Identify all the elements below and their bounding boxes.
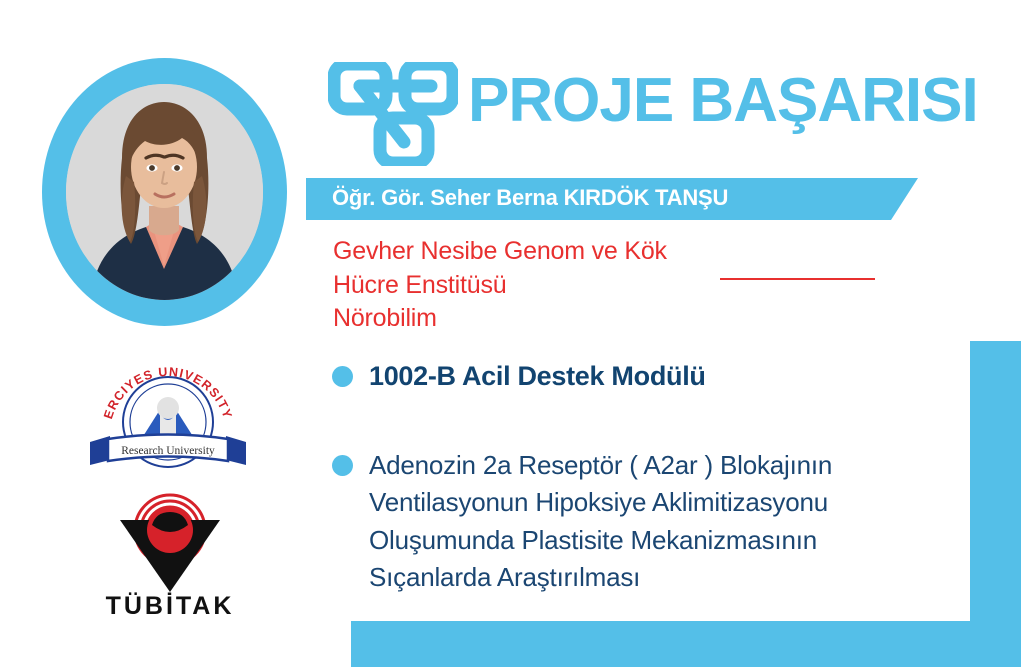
page-title: PROJE BAŞARISI (468, 70, 978, 132)
avatar-photo (66, 84, 263, 300)
poster-canvas: PROJE BAŞARISI Öğr. Gör. Seher Berna KIR… (0, 0, 1021, 667)
decorative-frame-vertical (970, 341, 1021, 621)
person-name: Öğr. Gör. Seher Berna KIRDÖK TANŞU (332, 185, 728, 211)
program-label: 1002-B Acil Destek Modülü (369, 361, 706, 392)
portrait-illustration (66, 84, 263, 300)
network-share-icon-svg (328, 62, 458, 166)
bullet-dot-icon (332, 455, 353, 476)
divider-rule (720, 278, 875, 280)
project-title-text: Adenozin 2a Reseptör ( A2ar ) Blokajının… (369, 447, 832, 597)
list-item: 1002-B Acil Destek Modülü (332, 361, 706, 392)
tubitak-wordmark: TÜBİTAK (106, 591, 235, 618)
avatar (42, 58, 287, 326)
bullet-dot-icon (332, 366, 353, 387)
network-share-icon (328, 62, 458, 166)
erciyes-ribbon-text: Research University (121, 445, 215, 457)
erciyes-university-logo: ERCIYES UNIVERSITY 1978 Research Univers… (88, 364, 248, 468)
tubitak-logo: TÜBİTAK (100, 492, 240, 618)
list-item: Adenozin 2a Reseptör ( A2ar ) Blokajının… (332, 447, 952, 597)
tubitak-logo-svg: TÜBİTAK (100, 492, 240, 618)
erciyes-logo-svg: ERCIYES UNIVERSITY 1978 Research Univers… (88, 364, 248, 468)
institute-lines: Gevher Nesibe Genom ve Kök Hücre Enstitü… (333, 235, 667, 336)
decorative-frame-horizontal (351, 621, 1021, 667)
